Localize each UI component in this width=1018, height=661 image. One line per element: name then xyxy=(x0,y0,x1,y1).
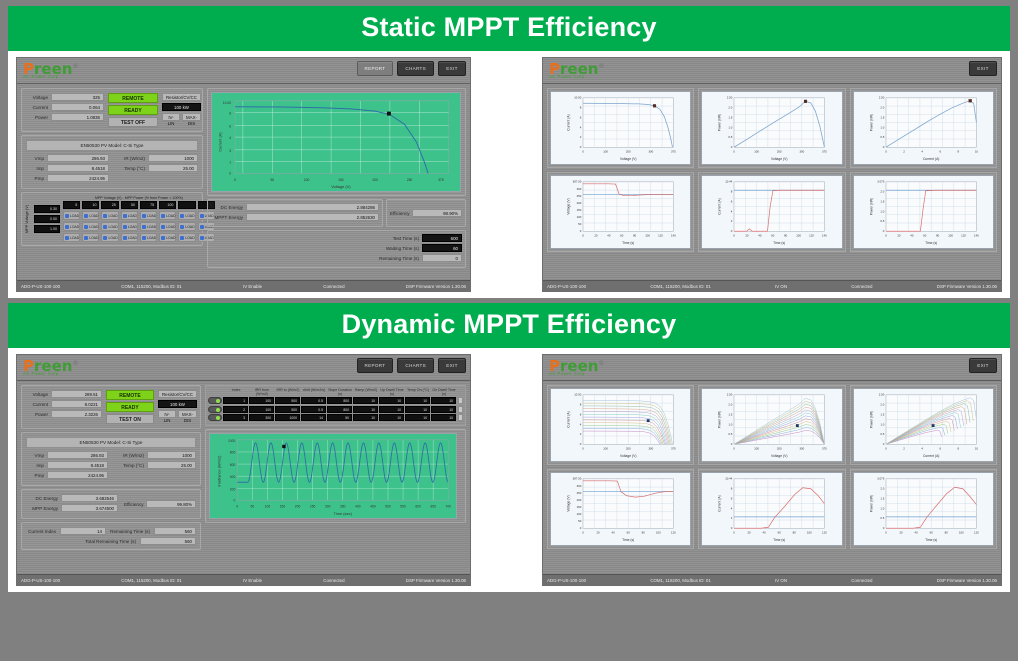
svg-text:60: 60 xyxy=(771,233,775,237)
charts-button[interactable]: CHARTS xyxy=(397,358,434,373)
svg-text:100: 100 xyxy=(797,233,802,237)
svg-text:Voltage (V): Voltage (V) xyxy=(771,454,787,458)
load-button[interactable]: LOAD xyxy=(101,233,118,242)
static-charts-window: Preen® AC Power Corp EXIT 10.00864200100… xyxy=(542,57,1002,292)
svg-text:200: 200 xyxy=(777,149,782,153)
svg-text:8: 8 xyxy=(731,190,733,194)
static-left-statusbar: ADG-P-US-100-100 COM1, 115200, Modbus ID… xyxy=(17,280,470,291)
load-button[interactable]: LOAD xyxy=(159,222,176,231)
svg-text:2.50: 2.50 xyxy=(727,96,733,100)
svg-text:Power (kW): Power (kW) xyxy=(718,114,722,131)
load-button[interactable]: LOAD xyxy=(121,233,138,242)
table-cell[interactable]: 10 xyxy=(353,397,378,404)
load-button-label: LOAD xyxy=(185,225,194,229)
svg-text:120: 120 xyxy=(961,233,966,237)
table-cell[interactable]: 10 xyxy=(431,406,456,413)
svg-text:100: 100 xyxy=(755,446,760,450)
status-comport: COM1, 115200, Modbus ID: 01 xyxy=(117,578,185,583)
energy-panel: DC Energy2.884286 MPPT Energy2.852630 xyxy=(207,199,383,227)
svg-text:6: 6 xyxy=(229,124,231,128)
total-remaining-time-value: 560 xyxy=(140,537,196,545)
svg-text:387.00: 387.00 xyxy=(573,477,582,481)
svg-text:150: 150 xyxy=(577,505,582,509)
report-button[interactable]: REPORT xyxy=(357,61,394,76)
power-time-chart: 3.0792.01.51.00.50020406080100120Time (s… xyxy=(853,472,994,546)
row-enable-toggle[interactable] xyxy=(208,397,222,404)
irradiance-chart-panel: 1000 800 600 400 200 0 05010015020025030… xyxy=(205,429,466,523)
svg-text:8: 8 xyxy=(580,106,582,110)
test-time-value: 600 xyxy=(422,234,462,242)
svg-text:20: 20 xyxy=(594,233,598,237)
remote-status-button[interactable]: REMOTE xyxy=(108,93,158,103)
remaining-time-value: 560 xyxy=(154,527,196,535)
load-button-label: LOAD xyxy=(185,214,194,218)
table-scrollbar[interactable] xyxy=(458,406,463,413)
dyn-energy-panel: DC Energy3.682646 MPP Energy3.674500 Eff… xyxy=(21,489,201,519)
aux-button-iv-lin[interactable]: IV-LIN xyxy=(158,410,176,418)
voltage-label: Voltage xyxy=(26,392,48,397)
exit-button[interactable]: EXIT xyxy=(438,61,466,76)
svg-text:Power (kW): Power (kW) xyxy=(869,411,873,428)
load-icon xyxy=(123,225,127,229)
svg-text:300: 300 xyxy=(648,446,653,450)
svg-text:100: 100 xyxy=(656,530,661,534)
svg-text:650: 650 xyxy=(430,504,436,508)
mpp-power-header: 100 xyxy=(159,201,176,209)
svg-text:6: 6 xyxy=(580,412,582,416)
irradiance-time-chart: 1000 800 600 400 200 0 05010015020025030… xyxy=(209,433,457,519)
svg-text:100: 100 xyxy=(755,149,760,153)
table-cell[interactable]: 1 xyxy=(223,397,248,404)
svg-text:Time (sec): Time (sec) xyxy=(334,511,353,516)
load-icon xyxy=(65,236,69,240)
svg-text:387.00: 387.00 xyxy=(573,180,582,184)
table-cell[interactable]: 10 xyxy=(379,397,404,404)
svg-text:2: 2 xyxy=(731,219,733,223)
static-main-window: Preen® AC Power Corp REPORT CHARTS EXIT xyxy=(16,57,471,292)
load-button[interactable]: LOAD xyxy=(82,222,99,231)
table-column-header: Index xyxy=(223,388,249,396)
table-cell[interactable]: 300 xyxy=(249,414,274,421)
voltage-value: 325 xyxy=(51,93,104,101)
pv-family-cell: 2.502.01.51.00.500100200300375Voltage (V… xyxy=(698,385,845,465)
pv-curve-cell: 2.502.01.51.00.500100200300375Voltage (V… xyxy=(698,88,845,168)
svg-text:700: 700 xyxy=(445,504,451,508)
test-toggle-button[interactable]: TEST ON xyxy=(106,414,154,424)
pmp-value: 2424.95 xyxy=(47,174,109,182)
svg-text:1.0: 1.0 xyxy=(880,209,884,213)
svg-text:140: 140 xyxy=(671,233,676,237)
row-enable-toggle[interactable] xyxy=(208,406,222,413)
table-cell[interactable]: 0.5 xyxy=(301,406,326,413)
load-button[interactable]: LOAD xyxy=(140,233,157,242)
table-cell[interactable]: 800 xyxy=(327,406,352,413)
current-time-cell: 10.4486420020406080100120Time (s)Current… xyxy=(698,469,845,549)
svg-text:3.079: 3.079 xyxy=(877,180,885,184)
charts-button[interactable]: CHARTS xyxy=(397,61,434,76)
vmp-label: Vmp xyxy=(26,453,44,458)
exit-button[interactable]: EXIT xyxy=(969,358,997,373)
table-cell[interactable]: 10 xyxy=(353,414,378,421)
svg-text:4: 4 xyxy=(580,125,582,129)
power-value: 2.3226 xyxy=(51,410,102,418)
aux-button-max-dis[interactable]: MAX-DIS xyxy=(182,113,201,121)
pv-model-title: EN50530 PV Model: C-Si Type xyxy=(26,437,196,448)
load-button-matrix[interactable]: 510255075100LOADLOADLOADLOADLOADLOADLOAD… xyxy=(63,201,215,242)
svg-text:550: 550 xyxy=(400,504,406,508)
svg-text:Current (A): Current (A) xyxy=(923,157,939,161)
load-icon xyxy=(200,236,204,240)
load-button[interactable]: LOAD xyxy=(159,233,176,242)
table-cell[interactable]: 10 xyxy=(431,414,456,421)
remote-status-button[interactable]: REMOTE xyxy=(106,390,154,400)
svg-text:1.5: 1.5 xyxy=(880,115,884,119)
svg-text:8: 8 xyxy=(731,487,733,491)
load-button[interactable]: LOAD xyxy=(178,233,195,242)
status-iv-mode: IV Enable xyxy=(239,284,266,289)
table-cell[interactable]: 2 xyxy=(223,406,248,413)
load-button[interactable]: LOAD xyxy=(178,211,195,220)
svg-text:Time (s): Time (s) xyxy=(925,538,937,542)
irradiance-value: 1000 xyxy=(148,154,198,162)
load-button-label: LOAD xyxy=(166,214,175,218)
svg-text:150: 150 xyxy=(280,504,286,508)
pmp-value: 2424.95 xyxy=(47,471,108,479)
mpp-power-header: 50 xyxy=(121,201,138,209)
svg-text:20: 20 xyxy=(897,233,901,237)
mpp-voltage-0: 0.30 xyxy=(34,205,60,213)
voltage-time-cell: 387.00300250200150100500020406080100120T… xyxy=(547,469,694,549)
aux-button-iv-lin[interactable]: IV-LIN xyxy=(162,113,180,121)
svg-text:0: 0 xyxy=(236,504,238,508)
efficiency-label: Efficiency xyxy=(124,502,144,507)
table-row[interactable]: 11005000.580010101010 xyxy=(208,397,463,404)
current-label: Current xyxy=(26,105,48,110)
load-icon xyxy=(200,214,204,218)
svg-text:2.50: 2.50 xyxy=(727,393,733,397)
load-button[interactable]: LOAD xyxy=(159,211,176,220)
table-row[interactable]: 21005000.580010101010 xyxy=(208,406,463,413)
preen-logo-3: Preen® AC Power Corp xyxy=(17,359,78,376)
load-button[interactable]: LOAD xyxy=(121,222,138,231)
load-button-label: LOAD xyxy=(89,225,98,229)
svg-text:0: 0 xyxy=(885,149,887,153)
vmp-label: Vmp xyxy=(26,156,44,161)
remaining-time-value: 0 xyxy=(422,254,462,262)
static-right-titlebar: Preen® AC Power Corp EXIT xyxy=(543,58,1001,84)
svg-text:3: 3 xyxy=(229,149,231,153)
static-screenshots: Preen® AC Power Corp REPORT CHARTS EXIT xyxy=(8,51,1010,298)
svg-text:8: 8 xyxy=(580,403,582,407)
status-firmware: DSP Firmware Version 1.30.06 xyxy=(933,284,1001,289)
mpp-power-header: 75 xyxy=(140,201,157,209)
table-scrollbar[interactable] xyxy=(458,414,463,421)
table-cell[interactable]: 10 xyxy=(379,414,404,421)
svg-text:0: 0 xyxy=(734,530,736,534)
load-button[interactable]: LOAD xyxy=(101,222,118,231)
ready-status-button[interactable]: READY xyxy=(106,402,154,412)
table-scrollbar[interactable] xyxy=(458,397,463,404)
svg-text:200: 200 xyxy=(626,149,631,153)
power-label: Power xyxy=(26,115,48,120)
static-iv-chart: 10.00 8 6 4 3 1 0 0 50 100 150 200 xyxy=(211,92,461,192)
svg-text:Voltage (V): Voltage (V) xyxy=(567,198,571,214)
svg-text:40: 40 xyxy=(763,530,767,534)
status-model: ADG-P-US-100-100 xyxy=(543,284,590,289)
svg-text:50: 50 xyxy=(578,222,582,226)
exit-button[interactable]: EXIT xyxy=(969,61,997,76)
load-button[interactable]: LOAD xyxy=(178,222,195,231)
table-cell[interactable]: 10 xyxy=(379,406,404,413)
mode-label: Resistor/CV/CC xyxy=(162,93,201,101)
svg-text:4: 4 xyxy=(580,422,582,426)
svg-text:80: 80 xyxy=(936,233,940,237)
svg-text:100: 100 xyxy=(603,149,608,153)
static-right-buttons: EXIT xyxy=(969,61,997,76)
status-model: ADG-P-US-100-100 xyxy=(17,284,64,289)
load-button-label: LOAD xyxy=(147,225,156,229)
table-column-header: Slope Duration (s) xyxy=(327,388,353,396)
pi-curve-chart: 2.502.01.51.00.500246810Current (A)Power… xyxy=(853,91,994,165)
load-button[interactable]: LOAD xyxy=(63,222,80,231)
svg-text:1.5: 1.5 xyxy=(880,199,884,203)
imp-value: 8.4518 xyxy=(47,164,109,172)
power-label: Power xyxy=(26,412,48,417)
svg-text:120: 120 xyxy=(809,233,814,237)
svg-text:375: 375 xyxy=(671,446,676,450)
iv-chart-panel: 10.00 8 6 4 3 1 0 0 50 100 150 200 xyxy=(207,88,466,196)
dynamic-right-statusbar: ADG-P-US-100-100 COM1, 115200, Modbus ID… xyxy=(543,574,1001,585)
svg-text:350: 350 xyxy=(340,504,346,508)
svg-text:4: 4 xyxy=(731,506,733,510)
table-cell[interactable]: 800 xyxy=(327,397,352,404)
table-column-header: IRR from (W/m2) xyxy=(249,388,275,396)
ready-status-button[interactable]: READY xyxy=(108,105,158,115)
table-cell[interactable]: 10 xyxy=(405,397,430,404)
svg-text:60: 60 xyxy=(778,530,782,534)
svg-text:100: 100 xyxy=(577,512,582,516)
temperature-value: 25.00 xyxy=(148,164,198,172)
imp-label: Imp xyxy=(26,166,44,171)
svg-text:200: 200 xyxy=(777,446,782,450)
load-button[interactable]: LOAD xyxy=(63,233,80,242)
svg-text:0.5: 0.5 xyxy=(880,516,884,520)
svg-text:60: 60 xyxy=(627,530,631,534)
svg-text:10.44: 10.44 xyxy=(726,477,734,481)
row-enable-toggle[interactable] xyxy=(208,414,222,421)
load-icon xyxy=(180,225,184,229)
svg-text:400: 400 xyxy=(355,504,361,508)
svg-text:1.0: 1.0 xyxy=(880,125,884,129)
svg-text:2.0: 2.0 xyxy=(880,403,884,407)
table-cell[interactable]: 3 xyxy=(223,414,248,421)
load-icon xyxy=(103,214,107,218)
table-body[interactable]: 11005000.58001010101021005000.5800101010… xyxy=(208,397,463,421)
status-iv-mode: IV ON xyxy=(771,578,791,583)
mpp-energy-label: MPP Energy xyxy=(26,506,58,511)
load-button-label: LOAD xyxy=(147,236,156,240)
load-button-label: LOAD xyxy=(185,236,194,240)
svg-text:150: 150 xyxy=(338,178,344,182)
status-model: ADG-P-US-100-100 xyxy=(17,578,64,583)
dynamic-left-buttons: REPORT CHARTS EXIT xyxy=(357,358,466,373)
svg-text:10: 10 xyxy=(974,446,978,450)
load-icon xyxy=(65,225,69,229)
svg-text:100: 100 xyxy=(948,233,953,237)
svg-text:6: 6 xyxy=(731,496,733,500)
svg-text:0: 0 xyxy=(582,446,584,450)
mpp-matrix-title: MPP Voltage (V) - MPP Power (% from Powe… xyxy=(63,196,215,200)
load-button[interactable]: LOAD xyxy=(82,233,99,242)
test-toggle-button[interactable]: TEST OFF xyxy=(108,117,158,127)
table-cell[interactable]: 50 xyxy=(327,414,352,421)
load-button[interactable]: LOAD xyxy=(140,211,157,220)
svg-text:2.50: 2.50 xyxy=(878,393,884,397)
svg-text:200: 200 xyxy=(577,201,582,205)
table-cell[interactable]: 10 xyxy=(353,406,378,413)
voltage-time-chart: 387.003002502001501005000204060801001201… xyxy=(550,175,691,249)
waiting-time-value: 60 xyxy=(422,244,462,252)
table-row[interactable]: 33001000145010101010 xyxy=(208,414,463,421)
table-cell[interactable]: 500 xyxy=(275,406,300,413)
load-icon xyxy=(142,236,146,240)
table-cell[interactable]: 100 xyxy=(249,397,274,404)
load-icon xyxy=(123,236,127,240)
svg-text:140: 140 xyxy=(822,233,827,237)
svg-text:200: 200 xyxy=(372,178,378,182)
svg-text:10.00: 10.00 xyxy=(574,96,582,100)
dc-energy-label: DC Energy xyxy=(26,496,58,501)
svg-text:140: 140 xyxy=(974,233,979,237)
temperature-value: 25.00 xyxy=(147,461,196,469)
efficiency-panel: Efficiency 98.90% xyxy=(386,199,466,227)
load-icon xyxy=(161,236,165,240)
load-button-label: LOAD xyxy=(166,236,175,240)
table-header-row: IndexIRR from (W/m2)IRR to (W/m2)dI/dt (… xyxy=(208,388,463,396)
table-cell[interactable]: 10 xyxy=(405,414,430,421)
svg-text:120: 120 xyxy=(822,530,827,534)
svg-text:200: 200 xyxy=(230,487,236,491)
load-button-label: LOAD xyxy=(70,225,79,229)
load-button-label: LOAD xyxy=(108,236,117,240)
svg-text:6: 6 xyxy=(580,115,582,119)
svg-text:200: 200 xyxy=(295,504,301,508)
vmp-value: 286.93 xyxy=(47,154,109,162)
power-time-chart: 3.0792.01.51.00.50020406080100120140Time… xyxy=(853,175,994,249)
load-icon xyxy=(161,214,165,218)
status-firmware: DSP Firmware Version 1.30.06 xyxy=(402,284,470,289)
load-button[interactable]: LOAD xyxy=(82,211,99,220)
load-button-label: LOAD xyxy=(108,214,117,218)
irradiance-profile-table[interactable]: IndexIRR from (W/m2)IRR to (W/m2)dI/dt (… xyxy=(205,385,466,426)
svg-text:20: 20 xyxy=(746,233,750,237)
svg-text:0.5: 0.5 xyxy=(880,219,884,223)
svg-text:Power (kW): Power (kW) xyxy=(718,411,722,428)
exit-button[interactable]: EXIT xyxy=(438,358,466,373)
load-button-label: LOAD xyxy=(70,236,79,240)
svg-text:80: 80 xyxy=(784,233,788,237)
svg-text:300: 300 xyxy=(648,149,653,153)
table-cell[interactable]: 10 xyxy=(405,406,430,413)
efficiency-value: 98.90% xyxy=(412,209,462,217)
svg-text:0: 0 xyxy=(233,498,235,502)
svg-text:0.5: 0.5 xyxy=(729,432,733,436)
power-time-cell: 3.0792.01.51.00.50020406080100120140Time… xyxy=(850,172,997,252)
status-connection: Connected xyxy=(847,578,876,583)
load-button[interactable]: LOAD xyxy=(63,211,80,220)
svg-text:0: 0 xyxy=(885,530,887,534)
report-button[interactable]: REPORT xyxy=(357,358,394,373)
svg-text:120: 120 xyxy=(974,530,979,534)
svg-text:1.5: 1.5 xyxy=(880,496,884,500)
irradiance-value: 1000 xyxy=(147,451,196,459)
svg-text:10.00: 10.00 xyxy=(574,393,582,397)
preen-logo-4: Preen® AC Power Corp xyxy=(543,359,604,376)
table-cell[interactable]: 10 xyxy=(431,397,456,404)
pmp-label: Pmp xyxy=(26,176,44,181)
svg-text:300: 300 xyxy=(800,446,805,450)
table-cell[interactable]: 500 xyxy=(275,397,300,404)
pmp-label: Pmp xyxy=(26,473,44,478)
mpp-voltage-1: 0.50 xyxy=(34,215,60,223)
load-button[interactable]: LOAD xyxy=(121,211,138,220)
load-icon xyxy=(65,214,69,218)
aux-button-max-dis[interactable]: MAX-DIS xyxy=(178,410,197,418)
table-column-header: Up Dwell Time (s) xyxy=(379,388,405,396)
table-column-header: dI/dt (W/m2/s) xyxy=(301,388,327,396)
preen-logo-2: Preen® AC Power Corp xyxy=(543,62,604,79)
svg-text:500: 500 xyxy=(385,504,391,508)
svg-text:Current (A): Current (A) xyxy=(718,495,722,511)
svg-text:Time (s): Time (s) xyxy=(773,538,785,542)
svg-text:200: 200 xyxy=(626,446,631,450)
dynamic-left-titlebar: Preen® AC Power Corp REPORT CHARTS EXIT xyxy=(17,355,470,381)
load-icon xyxy=(200,225,204,229)
load-icon xyxy=(103,236,107,240)
load-button[interactable]: LOAD xyxy=(101,211,118,220)
status-firmware: DSP Firmware Version 1.30.06 xyxy=(402,578,470,583)
svg-text:0.5: 0.5 xyxy=(880,135,884,139)
svg-text:250: 250 xyxy=(577,194,582,198)
svg-text:Voltage (V): Voltage (V) xyxy=(567,495,571,511)
dc-energy-label: DC Energy xyxy=(211,205,243,210)
table-cell[interactable]: 1000 xyxy=(275,414,300,421)
table-cell[interactable]: 100 xyxy=(249,406,274,413)
table-cell[interactable]: 0.5 xyxy=(301,397,326,404)
dynamic-right-titlebar: Preen® AC Power Corp EXIT xyxy=(543,355,1001,381)
imp-label: Imp xyxy=(26,463,44,468)
svg-text:0: 0 xyxy=(582,530,584,534)
svg-text:150: 150 xyxy=(577,208,582,212)
status-comport: COM1, 115200, Modbus ID: 01 xyxy=(646,284,714,289)
load-button[interactable]: LOAD xyxy=(140,222,157,231)
registered-icon: ® xyxy=(72,63,78,70)
svg-text:Power (kW): Power (kW) xyxy=(869,114,873,131)
status-model: ADG-P-US-100-100 xyxy=(543,578,590,583)
svg-text:300: 300 xyxy=(577,187,582,191)
current-label: Current xyxy=(26,402,48,407)
table-cell[interactable]: 14 xyxy=(301,414,326,421)
iv-curve-cell: 10.00864200100200300375Voltage (V)Curren… xyxy=(547,88,694,168)
svg-text:8: 8 xyxy=(229,112,231,116)
svg-text:375: 375 xyxy=(822,446,827,450)
svg-text:40: 40 xyxy=(607,233,611,237)
dyn-pv-model-panel: EN50530 PV Model: C-Si Type Vmp286.93 Im… xyxy=(21,432,201,486)
timers-panel: Test Time (s)600 Waiting Time (s)60 Rema… xyxy=(207,230,466,268)
current-index-value: 14 xyxy=(60,527,106,535)
svg-text:300: 300 xyxy=(800,149,805,153)
efficiency-label: Efficiency xyxy=(390,211,410,216)
